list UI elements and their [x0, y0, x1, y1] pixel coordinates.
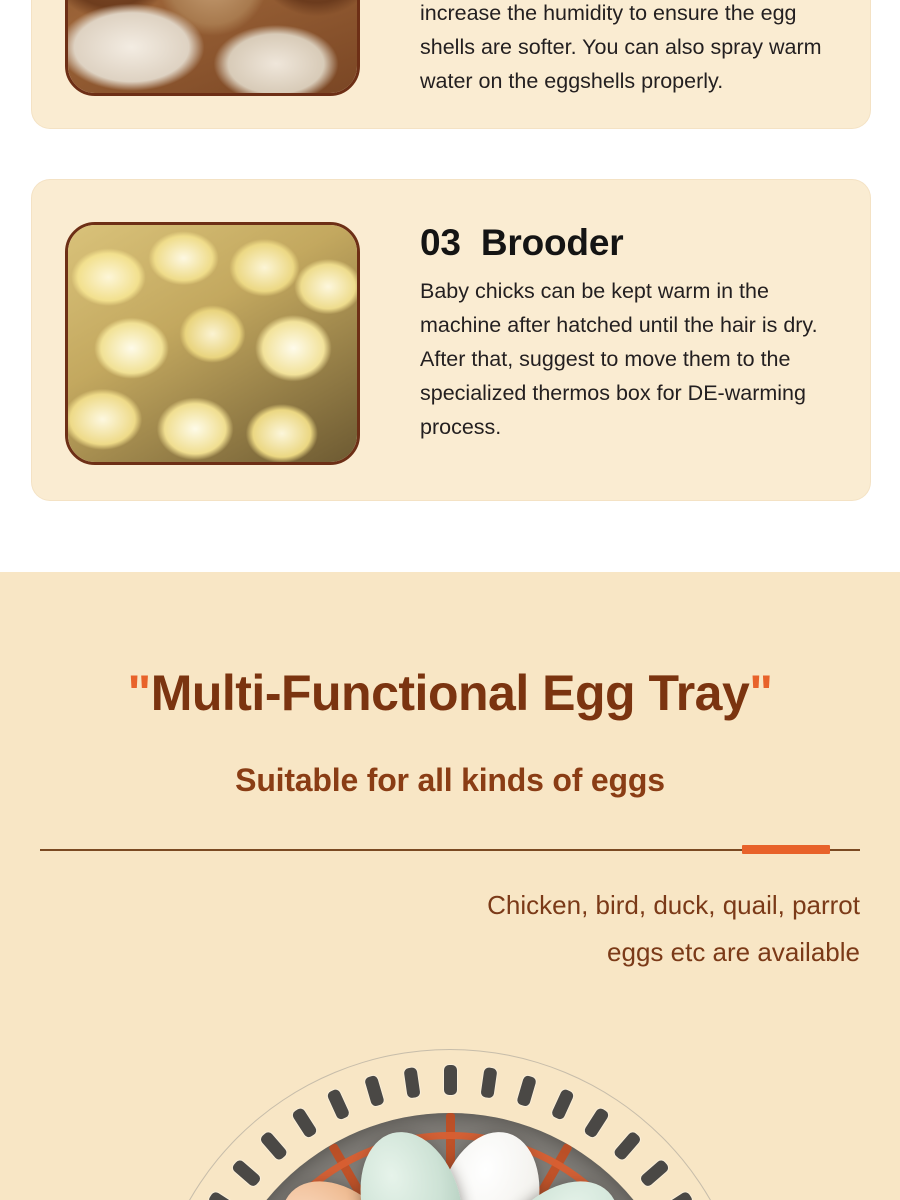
- circular-egg-tray: [150, 1050, 750, 1200]
- egg-types-caption: Chicken, bird, duck, quail, parrot eggs …: [0, 882, 860, 976]
- divider: [40, 848, 860, 851]
- tray-vent-slot: [516, 1075, 537, 1107]
- feature-card-heading: 03 Brooder: [420, 222, 852, 264]
- quote-open-mark: ": [127, 665, 150, 721]
- page-title: "Multi-Functional Egg Tray": [0, 664, 900, 722]
- baby-chicks-photo: [68, 225, 357, 462]
- features-section: increase the humidity to ensure the egg …: [0, 0, 900, 572]
- feature-card-text: increase the humidity to ensure the egg …: [420, 0, 852, 98]
- tray-inner-disc: [213, 1113, 687, 1200]
- caption-line-1: Chicken, bird, duck, quail, parrot: [0, 882, 860, 929]
- page-subtitle: Suitable for all kinds of eggs: [0, 762, 900, 799]
- baby-chicks-photo-frame: [65, 222, 360, 465]
- tray-vent-slot: [444, 1065, 457, 1095]
- quote-close-mark: ": [749, 665, 772, 721]
- hatching-eggs-photo: [68, 0, 357, 93]
- tray-vent-slot: [480, 1067, 497, 1099]
- feature-card-hatching: increase the humidity to ensure the egg …: [32, 0, 870, 128]
- feature-card-body: increase the humidity to ensure the egg …: [420, 0, 852, 98]
- tray-vent-slot: [363, 1075, 384, 1107]
- tray-vent-slot: [403, 1067, 420, 1099]
- feature-card-text: Baby chicks can be kept warm in the mach…: [420, 274, 852, 444]
- divider-line: [40, 849, 860, 851]
- hatching-eggs-photo-frame: [65, 0, 360, 96]
- caption-line-2: eggs etc are available: [0, 929, 860, 976]
- page-title-text: Multi-Functional Egg Tray: [151, 665, 750, 721]
- divider-accent: [742, 845, 830, 854]
- egg-tray-section: "Multi-Functional Egg Tray" Suitable for…: [0, 572, 900, 1200]
- feature-card-body: 03 Brooder Baby chicks can be kept warm …: [420, 222, 852, 444]
- feature-card-brooder: 03 Brooder Baby chicks can be kept warm …: [32, 180, 870, 500]
